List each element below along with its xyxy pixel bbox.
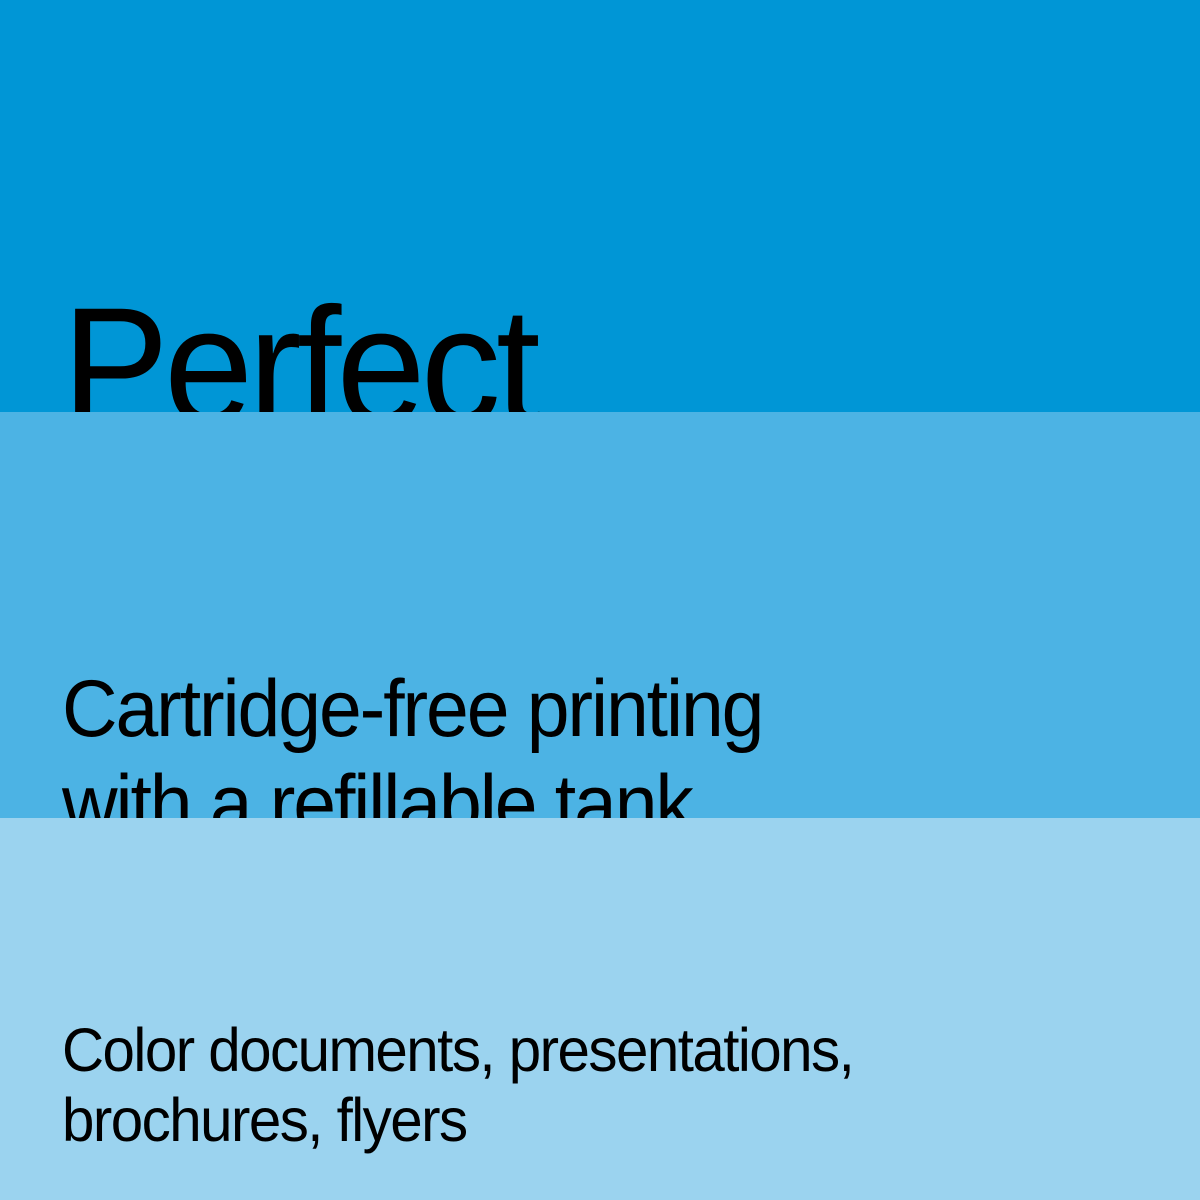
subheading-line-2: with a refillable tank <box>62 757 762 818</box>
caption-line-1: Color documents, presentations, <box>62 1015 853 1085</box>
caption-line-2: brochures, flyers <box>62 1085 853 1155</box>
subheading-band: Cartridge-free printingwith a refillable… <box>0 412 1200 818</box>
subheading-line-1: Cartridge-free printing <box>62 662 762 757</box>
page-title: Perfectfor home <box>62 17 656 412</box>
headline-line-1: Perfect <box>62 297 656 412</box>
headline-band: Perfectfor home <box>0 0 1200 412</box>
subheading-text: Cartridge-free printingwith a refillable… <box>62 472 762 818</box>
product-feature-card: Perfectfor home Cartridge-free printingw… <box>0 0 1200 1200</box>
caption-band: Color documents, presentations,brochures… <box>0 818 1200 1200</box>
caption-text: Color documents, presentations,brochures… <box>62 875 853 1200</box>
